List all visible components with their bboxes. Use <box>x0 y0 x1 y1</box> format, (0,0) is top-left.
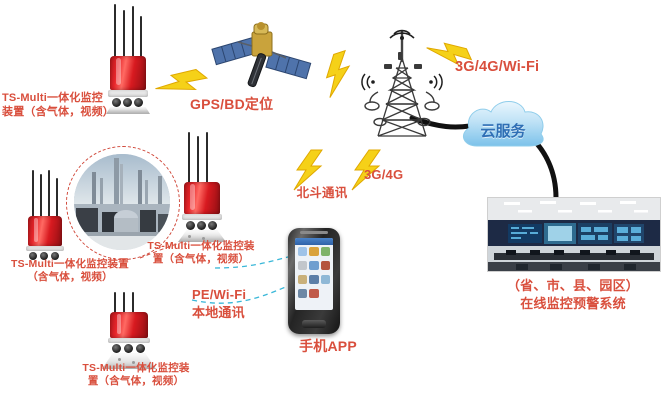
label-device-mid-left: TS-Multi一体化监控装置 （含气体，视频） <box>0 258 140 284</box>
label-gps-bd: GPS/BD定位 <box>190 96 320 114</box>
label-3g4g-wifi: 3G/4G/Wi-Fi <box>455 58 585 76</box>
label-local-comm: PE/Wi-Fi 本地通讯 <box>192 286 282 321</box>
phone-speaker <box>300 231 328 234</box>
label-device-center: TS-Multi一体化监控装 置（含气体，视频） <box>136 240 266 266</box>
phone-screen[interactable] <box>295 238 333 310</box>
bolt-satellite-to-tower <box>318 52 358 96</box>
monitor-device-center[interactable] <box>172 132 234 242</box>
label-3g4g: 3G/4G <box>364 167 424 183</box>
phone-home-button[interactable] <box>302 320 326 328</box>
diagram-canvas: 云服务 <box>0 0 668 406</box>
label-control-center: （省、市、县、园区） 在线监控预警系统 <box>478 277 668 313</box>
label-device-bottom: TS-Multi一体化监控装 置（含气体，视频） <box>66 362 206 388</box>
control-room-video-wall-photo <box>487 197 661 272</box>
satellite-icon <box>208 6 316 94</box>
label-beidou: 北斗通讯 <box>286 186 358 202</box>
petrochemical-plant-photo <box>74 154 170 250</box>
label-phone-app: 手机APP <box>283 338 373 356</box>
cloud-label: 云服务 <box>455 120 551 141</box>
rugged-handheld-device[interactable] <box>288 228 340 334</box>
cloud-icon: 云服务 <box>455 92 551 154</box>
monitor-device-bottom[interactable] <box>98 292 164 370</box>
label-device-top-left: TS-Multi一体化监控 装置（含气体，视频） <box>2 92 130 120</box>
